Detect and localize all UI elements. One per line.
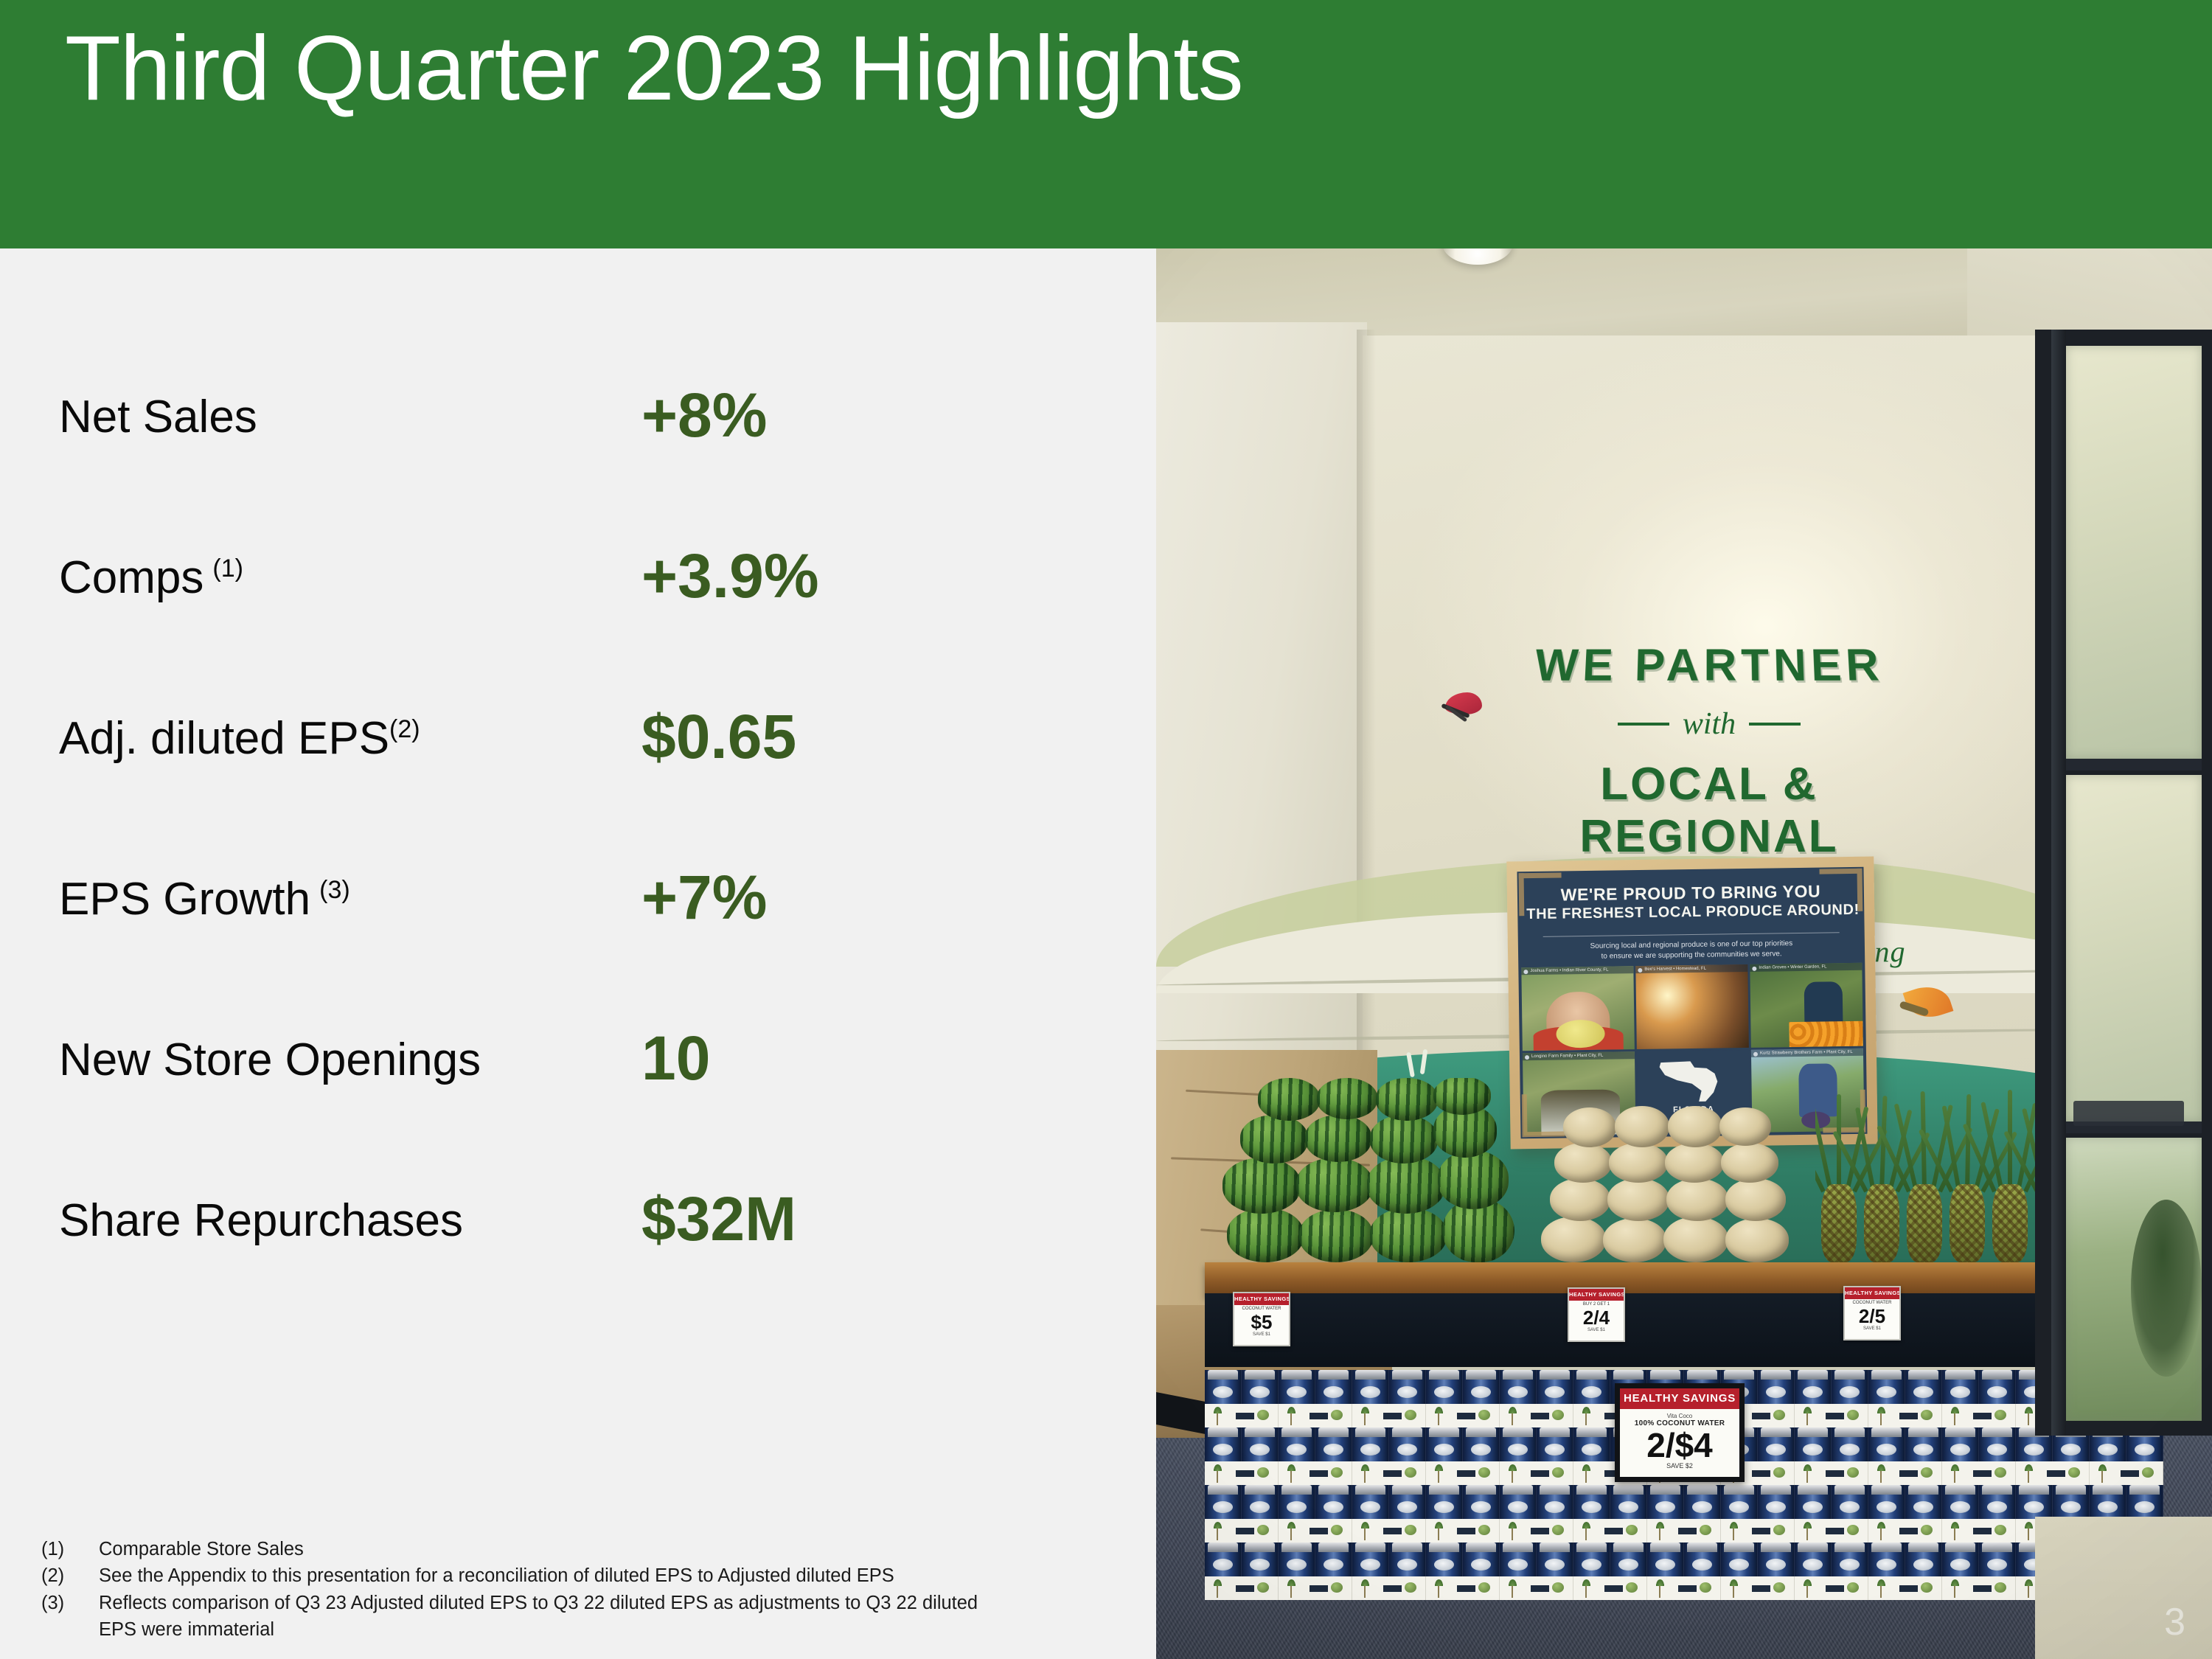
window-pane: [2066, 775, 2202, 1121]
shelf-price-tag: HEALTHY SAVINGS COCONUT WATER 2/5 SAVE $…: [1843, 1286, 1901, 1340]
footnotes: (1) Comparable Store Sales (2) See the A…: [41, 1536, 992, 1643]
footnote-marker: (1): [41, 1536, 99, 1562]
can-strip: [1205, 1485, 2163, 1519]
metric-label: Share Repurchases: [59, 1198, 463, 1244]
metric-row: New Store Openings 10: [59, 1037, 1032, 1198]
poster-cell: Bee's Harvest • Homestead, FL: [1635, 964, 1749, 1049]
footnote-ref: (3): [319, 876, 350, 904]
shelf-kickband: [1205, 1293, 2163, 1367]
footnote-marker: (2): [41, 1562, 99, 1589]
tag-header: HEALTHY SAVINGS: [1569, 1289, 1624, 1301]
metrics-list: Net Sales +8% Comps(1) +3.9% Adj. dilute…: [59, 394, 1032, 1359]
slide: Third Quarter 2023 Highlights Net Sales …: [0, 0, 2212, 1659]
window-post: [2051, 330, 2066, 1436]
shelf-price-tag: HEALTHY SAVINGS COCONUT WATER $5 SAVE $1: [1233, 1292, 1290, 1346]
page-number: 3: [2164, 1603, 2185, 1641]
metrics-panel: Net Sales +8% Comps(1) +3.9% Adj. dilute…: [0, 248, 1156, 1659]
frame-corner: [1519, 872, 1562, 916]
wall-graphic-line1: WE PARTNER: [1471, 640, 1948, 692]
footnote: (3) Reflects comparison of Q3 23 Adjuste…: [41, 1590, 992, 1643]
frame-corner: [1819, 869, 1863, 912]
metric-label: Comps(1): [59, 555, 243, 601]
sign-header: HEALTHY SAVINGS: [1620, 1388, 1739, 1409]
storefront-window: [2035, 330, 2212, 1436]
outdoor-tree: [2131, 1200, 2202, 1377]
tag-price: $5: [1234, 1312, 1289, 1332]
metric-value: +3.9%: [641, 545, 819, 607]
healthy-savings-sign: HEALTHY SAVINGS Vita Coco 100% COCONUT W…: [1615, 1383, 1745, 1482]
metric-label: Net Sales: [59, 394, 257, 440]
window-mullion: [2066, 759, 2202, 771]
metric-row: Adj. diluted EPS(2) $0.65: [59, 716, 1032, 877]
tag-header: HEALTHY SAVINGS: [1845, 1287, 1899, 1299]
box-strip: [1205, 1519, 2163, 1543]
wall-graphic-line2: with: [1683, 706, 1736, 742]
metric-value: +8%: [641, 384, 767, 446]
tag-save: SAVE $1: [1845, 1326, 1899, 1331]
footnote-ref: (1): [212, 554, 243, 582]
wall-graphic-line2-row: with: [1473, 706, 1945, 742]
footnote: (1) Comparable Store Sales: [41, 1536, 992, 1562]
rule-left: [1618, 723, 1669, 726]
shelf-price-tag: HEALTHY SAVINGS BUY 2 GET 1 2/4 SAVE $1: [1568, 1287, 1625, 1342]
outdoor-bench: [2073, 1101, 2184, 1126]
can-strip: [1205, 1543, 2163, 1576]
store-photo: WE PARTNER with LOCAL & REGIONAL FARMERS…: [1156, 248, 2212, 1659]
sign-price: 2/$4: [1620, 1428, 1739, 1462]
cantaloupe-pile: [1538, 1106, 1809, 1262]
poster-cell-caption: Kurtz Strawberry Brothers Farm • Plant C…: [1751, 1048, 1863, 1057]
box-strip: [1205, 1576, 2163, 1600]
footnote-text: See the Appendix to this presentation fo…: [99, 1562, 992, 1589]
window-pane: [2066, 346, 2202, 759]
poster-headline: WE'RE PROUD TO BRING YOU THE FRESHEST LO…: [1517, 867, 1864, 931]
produce-shelf: [1205, 1262, 2163, 1296]
footnote-ref: (2): [389, 715, 420, 743]
footnote: (2) See the Appendix to this presentatio…: [41, 1562, 992, 1589]
poster-headline-line2: THE FRESHEST LOCAL PRODUCE AROUND!: [1526, 901, 1855, 924]
poster-cell: Indian Groves • Winter Garden, FL: [1750, 963, 1863, 1048]
metric-value: 10: [641, 1027, 710, 1089]
poster-cell-caption: Indian Groves • Winter Garden, FL: [1750, 963, 1862, 972]
footnote-text: Comparable Store Sales: [99, 1536, 992, 1562]
poster-cell-caption: Joshua Farms • Indian River County, FL: [1521, 966, 1633, 975]
metric-row: Net Sales +8%: [59, 394, 1032, 555]
metric-value: +7%: [641, 866, 767, 928]
poster-cell: Joshua Farms • Indian River County, FL: [1521, 966, 1635, 1051]
tag-header: HEALTHY SAVINGS: [1234, 1293, 1289, 1305]
tag-price: 2/4: [1569, 1308, 1624, 1328]
metric-label: Adj. diluted EPS(2): [59, 716, 420, 762]
tag-save: SAVE $1: [1234, 1332, 1289, 1337]
sign-brand: Vita Coco: [1620, 1413, 1739, 1419]
metric-row: Share Repurchases $32M: [59, 1198, 1032, 1359]
metric-value: $0.65: [641, 706, 796, 768]
metric-label: New Store Openings: [59, 1037, 481, 1083]
case-row: [1205, 1543, 2163, 1600]
page-title: Third Quarter 2023 Highlights: [65, 21, 1243, 116]
sign-save: SAVE $2: [1620, 1462, 1739, 1470]
footnote-text: Reflects comparison of Q3 23 Adjusted di…: [99, 1590, 992, 1643]
metric-label: EPS Growth(3): [59, 877, 350, 922]
case-row: [1205, 1485, 2163, 1543]
produce-display: HEALTHY SAVINGS COCONUT WATER $5 SAVE $1…: [1205, 1096, 2163, 1621]
metric-value: $32M: [641, 1188, 796, 1250]
metric-row: EPS Growth(3) +7%: [59, 877, 1032, 1037]
header-band: Third Quarter 2023 Highlights: [0, 0, 2212, 248]
poster-divider: [1543, 933, 1840, 938]
footnote-marker: (3): [41, 1590, 99, 1616]
poster-cell-caption: Bee's Harvest • Homestead, FL: [1635, 964, 1747, 973]
rule-right: [1749, 723, 1801, 726]
tag-price: 2/5: [1845, 1307, 1899, 1326]
metric-row: Comps(1) +3.9%: [59, 555, 1032, 716]
window-base-wall: [2035, 1517, 2212, 1659]
tag-save: SAVE $1: [1569, 1328, 1624, 1332]
poster-cell-caption: Longino Farm Family • Plant City, FL: [1523, 1051, 1635, 1060]
watermelon-pile: [1222, 1078, 1532, 1262]
